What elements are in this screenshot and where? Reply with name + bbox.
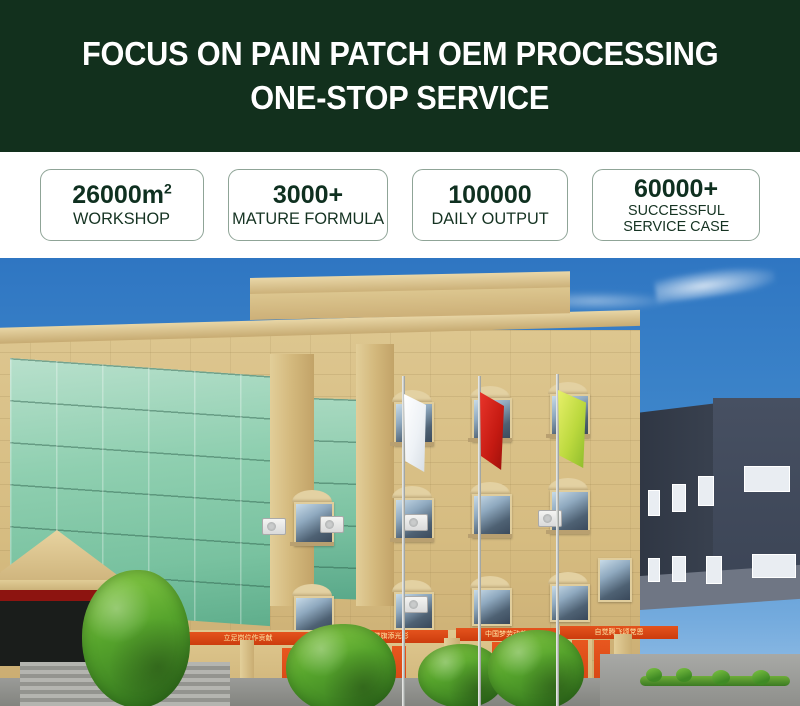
stat-card-workshop: 26000m2 WORKSHOP [40, 169, 204, 241]
stat-card-successful-service: 60000+ SUCCESSFUL SERVICE CASE [592, 169, 760, 241]
building-pier [270, 354, 314, 606]
industrial-window [648, 490, 660, 516]
stat-value-daily-output: 100000 [448, 182, 531, 209]
industrial-window-large [752, 554, 796, 578]
ac-unit-icon [404, 596, 428, 613]
header-title-line1: FOCUS ON PAIN PATCH OEM PROCESSING [82, 32, 719, 76]
stat-label-mature-formula: MATURE FORMULA [232, 209, 384, 228]
building-window [598, 558, 632, 602]
flag-green [558, 390, 586, 468]
factory-building-photo: 立足岗位作贡献 永为党旗添光彩 中国梦劳动美 自觉腾飞颂党恩 [0, 258, 800, 706]
flag-white [404, 394, 426, 472]
stat-label-successful-service-line2: SERVICE CASE [623, 219, 729, 235]
stat-label-successful-service-line1: SUCCESSFUL [628, 203, 725, 219]
industrial-window [706, 556, 722, 584]
stat-value-workshop: 26000m2 [72, 182, 172, 209]
industrial-window [648, 558, 660, 582]
stat-label-workshop: WORKSHOP [73, 209, 170, 228]
ac-unit-icon [320, 516, 344, 533]
tree [82, 570, 190, 706]
industrial-window [698, 476, 714, 506]
window-sill [390, 538, 434, 542]
building-pier [356, 344, 394, 606]
shrub [646, 668, 662, 682]
shrub [676, 668, 692, 682]
tree [488, 630, 584, 706]
ac-unit-icon [404, 514, 428, 531]
entrance-banner [0, 590, 100, 601]
industrial-window [672, 484, 686, 512]
stat-label-daily-output: DAILY OUTPUT [431, 209, 548, 228]
header-banner: FOCUS ON PAIN PATCH OEM PROCESSING ONE-S… [0, 0, 800, 152]
industrial-window-large [744, 466, 790, 492]
window-sill [546, 530, 590, 534]
window-sill [468, 534, 512, 538]
stat-value-mature-formula: 3000+ [273, 182, 343, 209]
window-sill [290, 542, 334, 546]
shrub [752, 670, 770, 685]
product-detail-page: FOCUS ON PAIN PATCH OEM PROCESSING ONE-S… [0, 0, 800, 706]
stat-value-successful-service: 60000+ [634, 176, 718, 203]
flagpole [402, 376, 405, 706]
flagpole [556, 374, 559, 706]
tree [286, 624, 396, 706]
header-title-line2: ONE-STOP SERVICE [251, 76, 550, 120]
industrial-window [672, 556, 686, 582]
shrub [712, 670, 730, 685]
stats-strip: 26000m2 WORKSHOP 3000+ MATURE FORMULA 10… [0, 152, 800, 258]
ac-unit-icon [262, 518, 286, 535]
stat-card-daily-output: 100000 DAILY OUTPUT [412, 169, 568, 241]
stat-card-mature-formula: 3000+ MATURE FORMULA [228, 169, 388, 241]
